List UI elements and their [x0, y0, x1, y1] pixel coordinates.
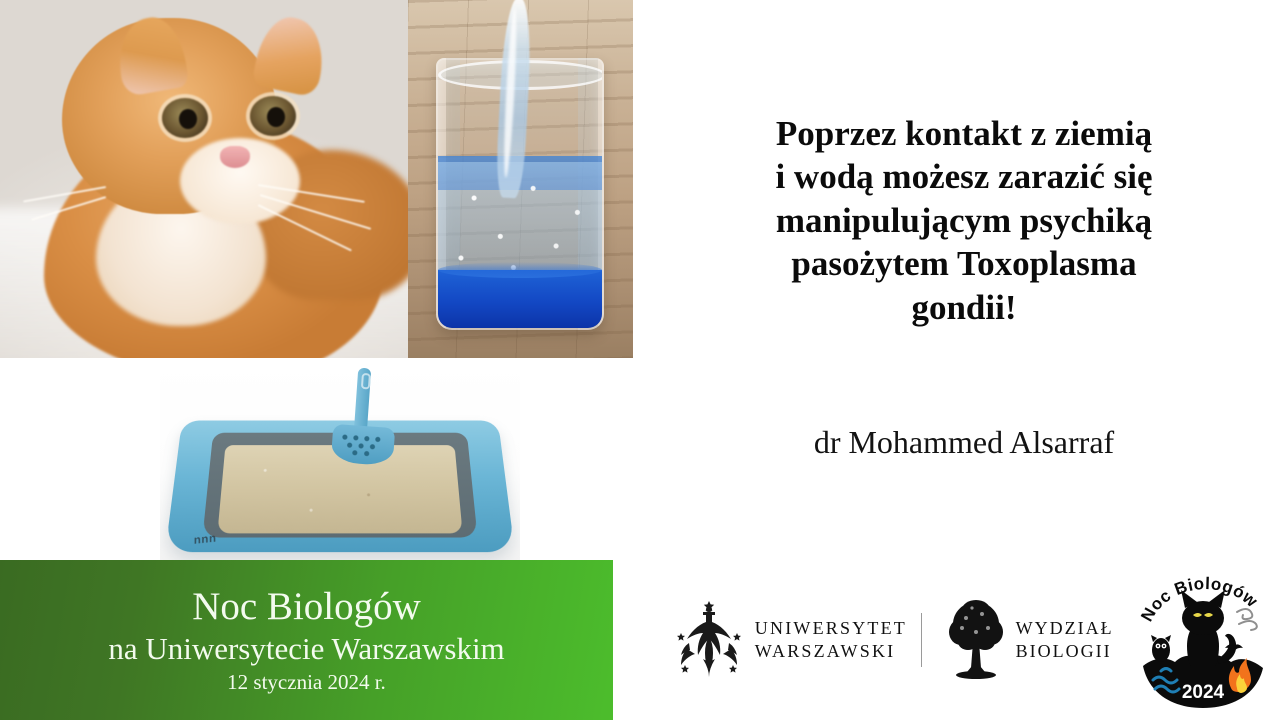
- ginger-cat-photo: [0, 0, 408, 358]
- black-cat-icon: Noc Biologów 2024: [1139, 570, 1267, 710]
- cat-eye-right: [250, 96, 296, 136]
- cat-nose: [220, 146, 250, 168]
- banner-title: Noc Biologów: [192, 587, 421, 628]
- cat-litter-box-photo: nnn: [160, 358, 520, 561]
- heading-line: Poprzez kontakt z ziemią: [668, 112, 1260, 155]
- faculty-name-line2: BIOLOGII: [1016, 640, 1114, 663]
- owl-icon: [1151, 635, 1171, 662]
- presentation-slide: nnn Noc Biologów na Uniwersytecie Warsza…: [0, 0, 1280, 720]
- heading-line: manipulującym psychiką: [668, 199, 1260, 242]
- cat-eye-left: [162, 98, 208, 138]
- blue-water-bottom: [438, 270, 602, 328]
- banner-subtitle: na Uniwersytecie Warszawskim: [108, 632, 504, 667]
- banner-date: 12 stycznia 2024 r.: [227, 670, 386, 695]
- slide-heading: Poprzez kontakt z ziemią i wodą możesz z…: [668, 112, 1260, 329]
- speaker-name: dr Mohammed Alsarraf: [668, 424, 1260, 461]
- cat-ear-left: [112, 13, 190, 97]
- eagle-emblem-icon: [673, 599, 745, 681]
- faculty-name: WYDZIAŁ BIOLOGII: [1016, 617, 1114, 664]
- university-name-line1: UNIWERSYTET: [755, 617, 907, 640]
- university-name-line2: WARSZAWSKI: [755, 640, 907, 663]
- university-of-warsaw-logo: UNIWERSYTET WARSZAWSKI: [673, 599, 922, 681]
- cat-head: [62, 18, 278, 214]
- litter-sand: [217, 445, 462, 533]
- faculty-of-biology-logo: WYDZIAŁ BIOLOGII: [948, 598, 1114, 682]
- heading-line: gondii!: [668, 286, 1260, 329]
- noc-biologow-event-logo: Noc Biologów 2024: [1139, 570, 1267, 710]
- heading-line: pasożytem Toxoplasma: [668, 242, 1260, 285]
- logo-strip: UNIWERSYTET WARSZAWSKI: [660, 560, 1280, 720]
- wind-swirl-icon: [1237, 609, 1257, 630]
- logo-divider: [921, 613, 922, 667]
- litter-box-brand-mark: nnn: [194, 532, 217, 547]
- tree-emblem-icon: [948, 598, 1004, 682]
- water-glass-photo: [408, 0, 633, 358]
- event-banner: Noc Biologów na Uniwersytecie Warszawski…: [0, 560, 613, 720]
- heading-line: i wodą możesz zarazić się: [668, 155, 1260, 198]
- university-name: UNIWERSYTET WARSZAWSKI: [755, 617, 907, 663]
- faculty-name-line1: WYDZIAŁ: [1016, 617, 1114, 640]
- event-logo-year: 2024: [1182, 682, 1225, 703]
